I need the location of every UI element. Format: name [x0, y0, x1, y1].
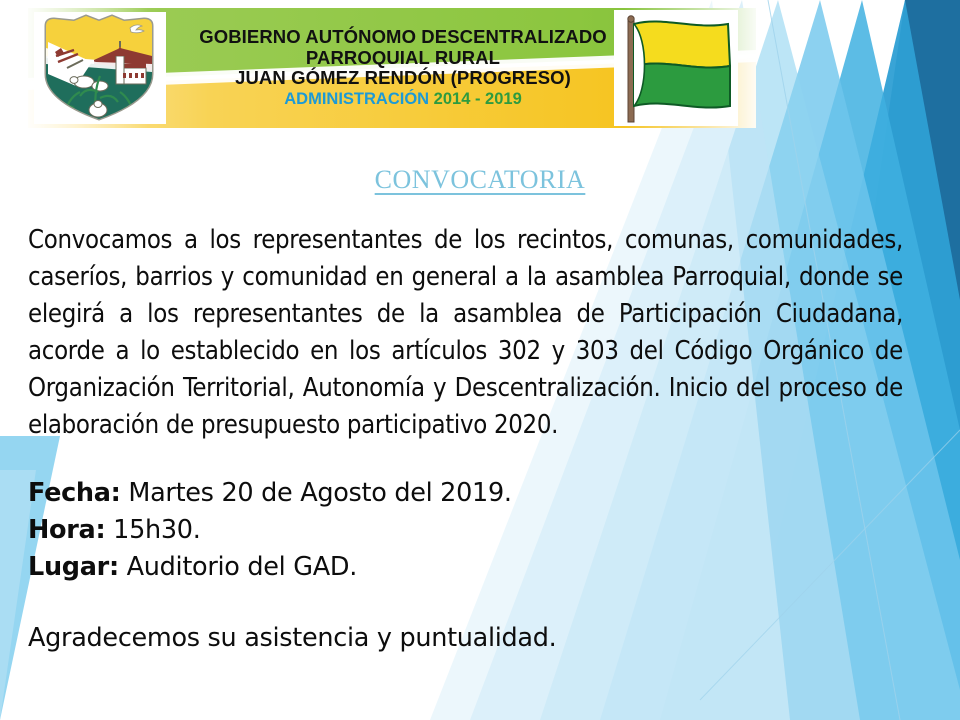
detail-label-lugar: Lugar: [28, 552, 119, 582]
detail-label-fecha: Fecha: [28, 478, 121, 508]
detail-row-fecha: Fecha: Martes 20 de Agosto del 2019. [28, 475, 903, 512]
convocatoria-paragraph: Convocamos a los representantes de los r… [28, 222, 903, 444]
detail-label-hora: Hora: [28, 515, 105, 545]
parish-flag-icon [618, 14, 738, 124]
banner-admin-years: 2014 - 2019 [434, 90, 522, 108]
banner-line-1: GOBIERNO AUTÓNOMO DESCENTRALIZADO [178, 27, 628, 48]
detail-row-lugar: Lugar: Auditorio del GAD. [28, 549, 903, 586]
detail-row-hora: Hora: 15h30. [28, 512, 903, 549]
coat-of-arms-icon [34, 12, 164, 124]
event-details: Fecha: Martes 20 de Agosto del 2019. Hor… [28, 475, 903, 586]
banner-line-2: PARROQUIAL RURAL [178, 48, 628, 69]
banner-administration-line: ADMINISTRACIÓN 2014 - 2019 [178, 90, 628, 109]
detail-value-lugar: Auditorio del GAD. [127, 552, 357, 582]
header-banner: GOBIERNO AUTÓNOMO DESCENTRALIZADO PARROQ… [28, 8, 756, 128]
banner-admin-word: ADMINISTRACIÓN [284, 90, 429, 108]
banner-text-block: GOBIERNO AUTÓNOMO DESCENTRALIZADO PARROQ… [178, 14, 628, 122]
detail-value-fecha: Martes 20 de Agosto del 2019. [128, 478, 511, 508]
closing-line: Agradecemos su asistencia y puntualidad. [28, 620, 903, 657]
page-title: CONVOCATORIA [0, 165, 960, 195]
detail-value-hora: 15h30. [113, 515, 200, 545]
banner-line-3: JUAN GÓMEZ RENDÓN (PROGRESO) [178, 68, 628, 89]
document-body: Convocamos a los representantes de los r… [28, 222, 903, 657]
